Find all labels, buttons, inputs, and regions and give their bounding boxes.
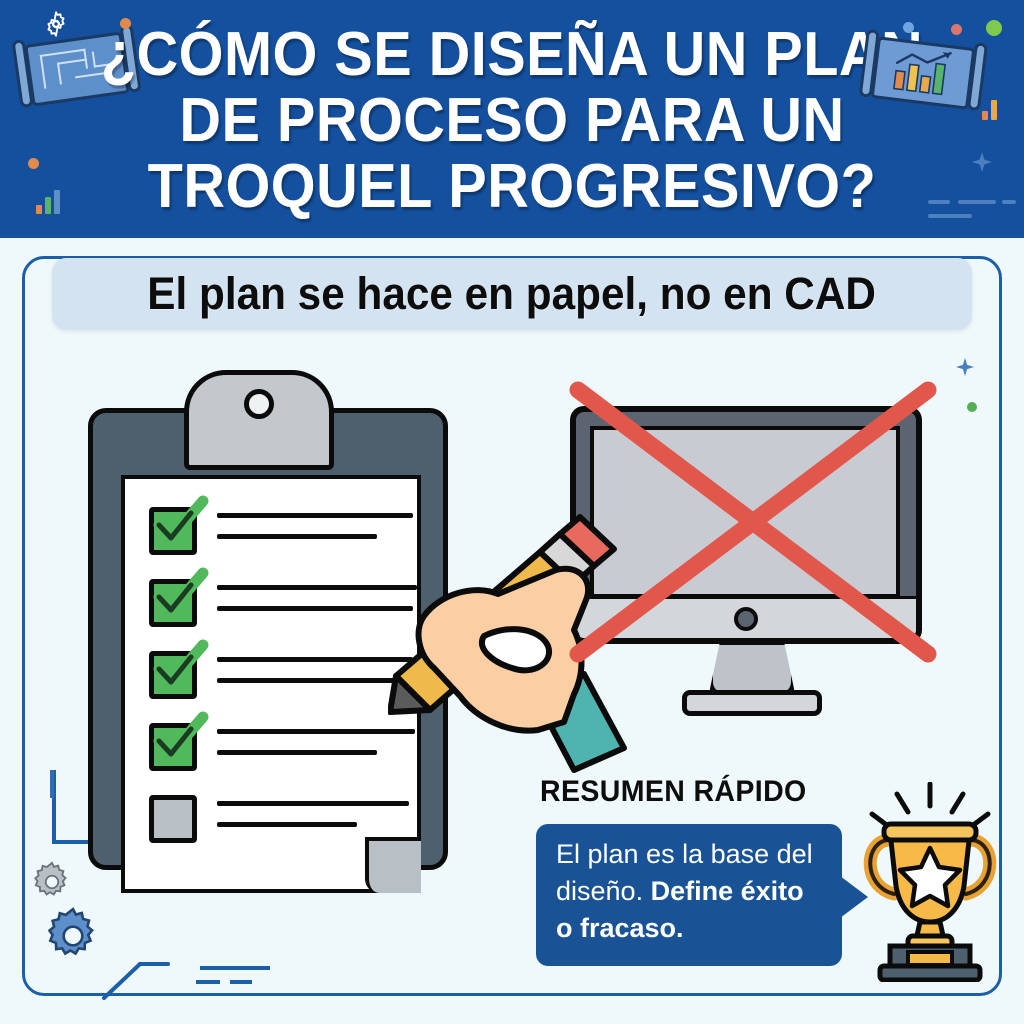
checklist-row xyxy=(149,507,417,569)
circuit-trace xyxy=(52,812,56,834)
circuit-diagonal xyxy=(100,960,170,1002)
checklist-row xyxy=(149,579,417,641)
paper-fold-corner xyxy=(365,837,421,893)
dot-decoration xyxy=(120,18,131,29)
text-lines xyxy=(217,729,415,771)
check-icon xyxy=(147,567,209,625)
dash-decoration xyxy=(958,200,996,204)
trophy-icon xyxy=(850,782,1010,982)
page-title: ¿CÓMO SE DISEÑA UN PLAN DE PROCESO PARA … xyxy=(36,22,988,220)
summary-speech-bubble: El plan es la base del diseño. Define éx… xyxy=(536,824,842,966)
title-line-2: DE PROCESO PARA UN xyxy=(36,88,988,154)
dot-decoration xyxy=(903,22,914,33)
title-line-3: TROQUEL PROGRESIVO? xyxy=(36,154,988,220)
checklist-row xyxy=(149,723,417,785)
sparkle-icon xyxy=(956,358,974,376)
title-line-1: ¿CÓMO SE DISEÑA UN PLAN xyxy=(36,22,988,88)
dot-decoration xyxy=(986,20,1002,36)
red-cross-out-icon xyxy=(552,378,952,708)
clipboard-paper xyxy=(121,475,421,893)
text-lines xyxy=(217,657,413,699)
gear-icon xyxy=(30,860,74,904)
infographic-root: ¿CÓMO SE DISEÑA UN PLAN DE PROCESO PARA … xyxy=(0,0,1024,1024)
check-icon xyxy=(147,639,209,697)
gear-icon xyxy=(42,905,104,967)
mini-bar-chart-icon xyxy=(36,190,66,214)
circuit-trace xyxy=(200,966,270,970)
mini-bar-chart-icon xyxy=(982,100,1004,120)
dash-decoration xyxy=(928,214,972,218)
clipboard-clip xyxy=(184,370,334,470)
clipboard-checklist-illustration xyxy=(88,370,478,880)
circuit-trace xyxy=(196,980,220,984)
plus-icon xyxy=(18,105,36,123)
text-lines xyxy=(217,513,413,555)
clip-hole xyxy=(244,389,274,419)
checkbox-unchecked[interactable] xyxy=(149,795,197,843)
monitor-crossed-out-illustration xyxy=(552,378,952,748)
dash-decoration xyxy=(928,200,950,204)
checklist-row xyxy=(149,651,417,713)
blueprint-scroll-icon xyxy=(24,31,130,106)
circuit-trace xyxy=(50,770,54,798)
dot-decoration xyxy=(28,158,39,169)
sparkle-icon xyxy=(972,152,992,172)
summary-text: El plan es la base del diseño. Define éx… xyxy=(556,836,826,947)
header-banner: ¿CÓMO SE DISEÑA UN PLAN DE PROCESO PARA … xyxy=(0,0,1024,238)
check-icon xyxy=(147,711,209,769)
dot-decoration xyxy=(951,24,962,35)
chart-scroll-icon xyxy=(871,36,976,109)
dot-decoration xyxy=(967,402,977,412)
subtitle-text: El plan se hace en papel, no en CAD xyxy=(148,268,877,320)
gear-icon xyxy=(42,10,70,38)
text-lines xyxy=(217,585,417,627)
dash-decoration xyxy=(1002,200,1016,204)
subtitle-banner: El plan se hace en papel, no en CAD xyxy=(52,258,972,330)
circuit-trace xyxy=(230,980,252,984)
check-icon xyxy=(147,495,209,553)
